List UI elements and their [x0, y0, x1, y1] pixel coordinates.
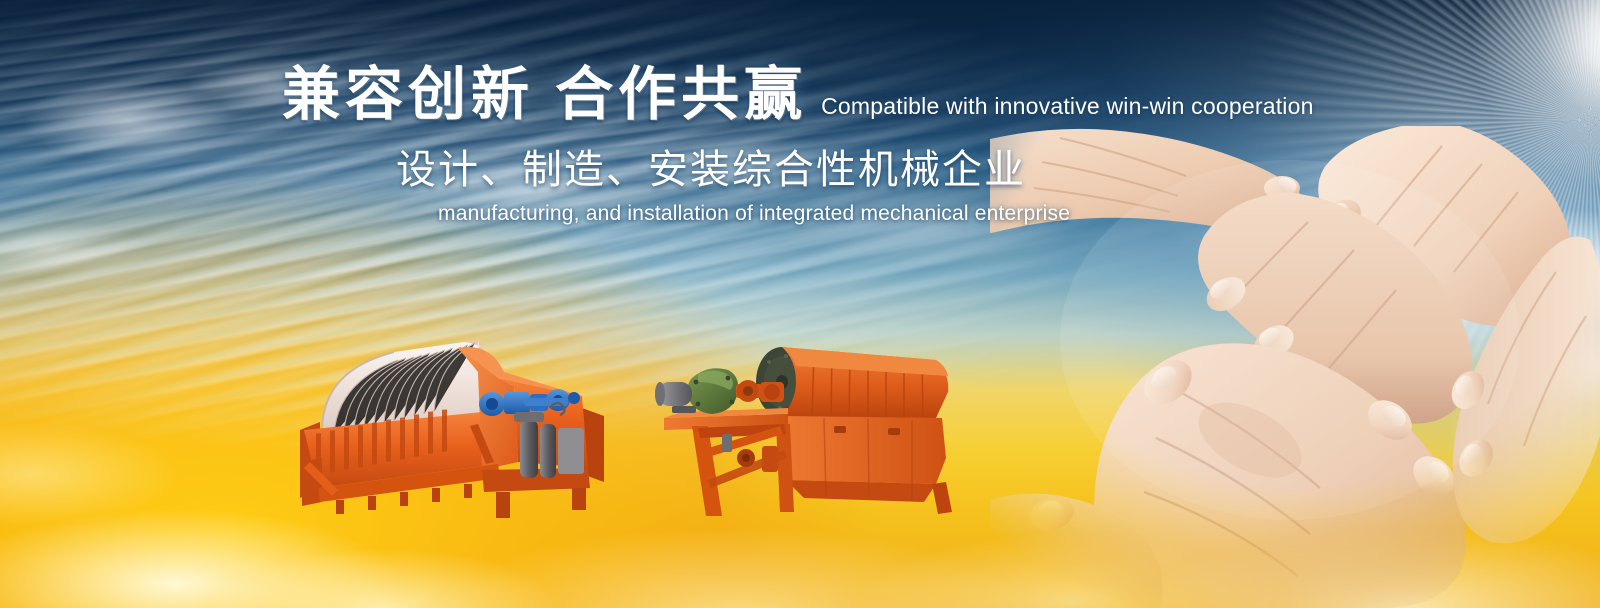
- stacked-hands-teamwork: [990, 90, 1600, 608]
- disc-vacuum-filter-machine: [282, 312, 622, 544]
- magnetic-separator-machine: [636, 330, 972, 520]
- promotional-banner: 兼容创新 合作共赢 Compatible with innovative win…: [0, 0, 1600, 608]
